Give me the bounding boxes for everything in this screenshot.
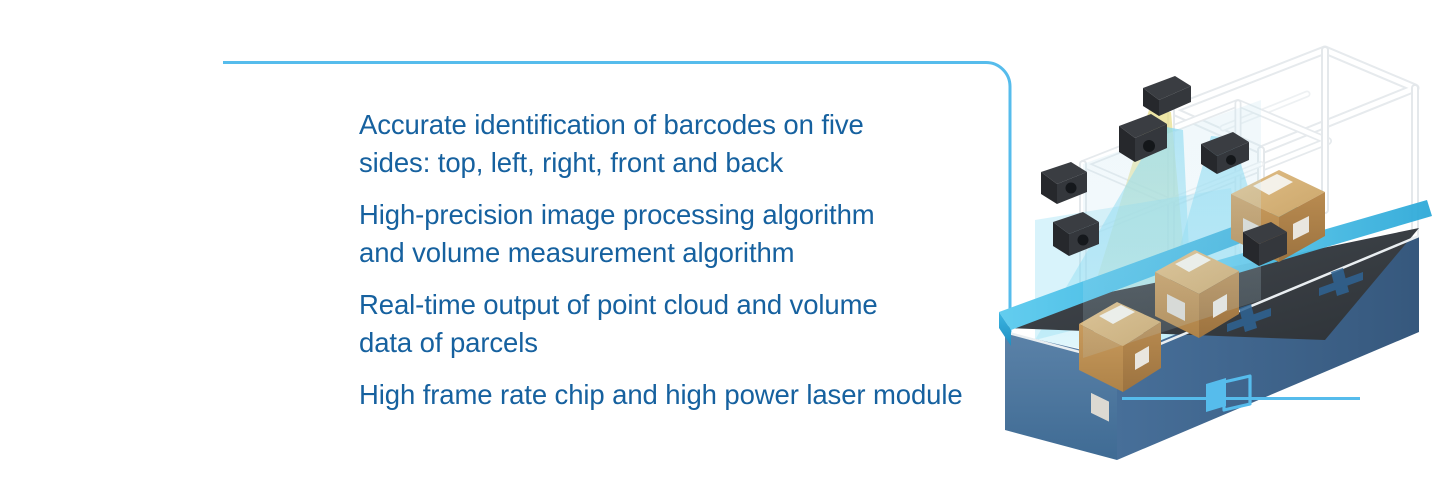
feature-list: Accurate identification of barcodes on f…: [359, 106, 1029, 414]
illustration-banner: Accurate identification of barcodes on f…: [0, 0, 1432, 488]
feature-item-point-cloud-output: Real-time output of point cloud and volu…: [359, 286, 1029, 362]
top-camera: [1143, 76, 1191, 116]
feature-item-image-processing: High-precision image processing algorith…: [359, 196, 1029, 272]
parcel-icon: [1204, 374, 1256, 416]
feature-item-laser-module: High frame rate chip and high power lase…: [359, 376, 1029, 414]
feature-item-barcode-identification: Accurate identification of barcodes on f…: [359, 106, 1029, 182]
